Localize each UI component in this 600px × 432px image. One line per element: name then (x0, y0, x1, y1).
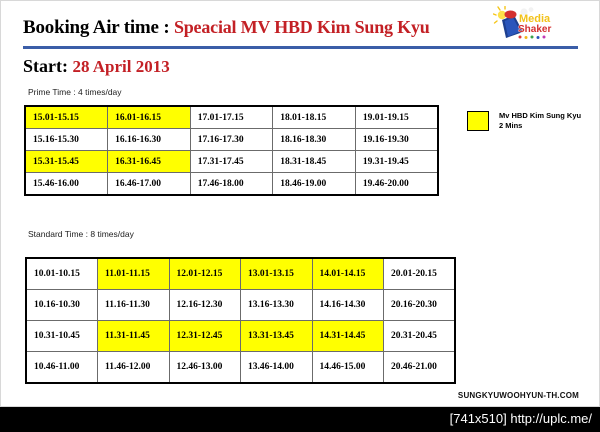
time-slot-cell: 19.31-19.45 (355, 151, 438, 173)
legend-line-2: 2 Mins (499, 121, 581, 131)
time-slot-cell-highlighted: 13.01-13.15 (241, 258, 313, 290)
confetti-icon (519, 36, 546, 40)
start-date-row: Start: 28 April 2013 (23, 56, 170, 77)
document-content: Booking Air time : Speacial MV HBD Kim S… (1, 1, 600, 408)
time-slot-cell: 15.46-16.00 (25, 173, 108, 196)
time-slot-cell-highlighted: 14.31-14.45 (312, 321, 384, 352)
time-slot-cell: 15.16-15.30 (25, 129, 108, 151)
time-slot-cell: 17.46-18.00 (190, 173, 273, 196)
legend-text: Mv HBD Kim Sung Kyu 2 Mins (499, 111, 581, 131)
time-slot-cell: 18.31-18.45 (273, 151, 356, 173)
time-slot-cell: 19.16-19.30 (355, 129, 438, 151)
time-slot-cell-highlighted: 12.31-12.45 (169, 321, 241, 352)
time-slot-cell: 12.46-13.00 (169, 352, 241, 384)
time-slot-cell-highlighted: 16.01-16.15 (108, 106, 191, 129)
time-slot-cell: 16.46-17.00 (108, 173, 191, 196)
time-slot-cell: 18.46-19.00 (273, 173, 356, 196)
standard-time-table: 10.01-10.1511.01-11.1512.01-12.1513.01-1… (25, 257, 456, 384)
time-slot-cell: 10.01-10.15 (26, 258, 98, 290)
time-slot-cell-highlighted: 14.01-14.15 (312, 258, 384, 290)
prime-time-table: 15.01-15.1516.01-16.1517.01-17.1518.01-1… (24, 105, 439, 196)
table-row: 15.16-15.3016.16-16.3017.16-17.3018.16-1… (25, 129, 438, 151)
logo-wordmark-shaker: Shaker (518, 24, 551, 35)
time-slot-cell: 17.16-17.30 (190, 129, 273, 151)
standard-time-caption: Standard Time : 8 times/day (28, 229, 134, 239)
time-slot-cell: 18.01-18.15 (273, 106, 356, 129)
screenshot-root: Booking Air time : Speacial MV HBD Kim S… (0, 0, 600, 432)
image-viewer-bar: [741x510] http://uplc.me/ (0, 407, 600, 432)
header-divider (23, 46, 578, 49)
time-slot-cell-highlighted: 15.31-15.45 (25, 151, 108, 173)
standard-time-table-body: 10.01-10.1511.01-11.1512.01-12.1513.01-1… (26, 258, 455, 383)
prime-time-caption: Prime Time : 4 times/day (28, 87, 122, 97)
time-slot-cell: 10.31-10.45 (26, 321, 98, 352)
time-slot-cell: 17.01-17.15 (190, 106, 273, 129)
time-slot-cell: 16.16-16.30 (108, 129, 191, 151)
start-date-value: 28 April 2013 (72, 57, 169, 76)
table-row: 15.46-16.0016.46-17.0017.46-18.0018.46-1… (25, 173, 438, 196)
table-row: 10.31-10.4511.31-11.4512.31-12.4513.31-1… (26, 321, 455, 352)
legend-line-1: Mv HBD Kim Sung Kyu (499, 111, 581, 121)
time-slot-cell: 20.16-20.30 (384, 290, 456, 321)
time-slot-cell: 20.01-20.15 (384, 258, 456, 290)
site-credit: SUNGKYUWOOHYUN-TH.COM (458, 391, 579, 400)
time-slot-cell: 10.16-10.30 (26, 290, 98, 321)
time-slot-cell: 11.16-11.30 (98, 290, 170, 321)
legend: Mv HBD Kim Sung Kyu 2 Mins (467, 111, 581, 131)
time-slot-cell-highlighted: 12.01-12.15 (169, 258, 241, 290)
table-row: 10.46-11.0011.46-12.0012.46-13.0013.46-1… (26, 352, 455, 384)
legend-swatch-yellow (467, 111, 489, 131)
table-row: 15.31-15.4516.31-16.4517.31-17.4518.31-1… (25, 151, 438, 173)
page-title-value: Speacial MV HBD Kim Sung Kyu (174, 17, 430, 37)
prime-time-table-body: 15.01-15.1516.01-16.1517.01-17.1518.01-1… (25, 106, 438, 195)
media-shaker-logo-icon: Media Shaker (493, 6, 555, 43)
time-slot-cell: 19.46-20.00 (355, 173, 438, 196)
time-slot-cell: 13.46-14.00 (241, 352, 313, 384)
table-row: 15.01-15.1516.01-16.1517.01-17.1518.01-1… (25, 106, 438, 129)
time-slot-cell-highlighted: 15.01-15.15 (25, 106, 108, 129)
time-slot-cell: 11.46-12.00 (98, 352, 170, 384)
time-slot-cell: 17.31-17.45 (190, 151, 273, 173)
time-slot-cell-highlighted: 11.31-11.45 (98, 321, 170, 352)
media-shaker-logo: Media Shaker (493, 6, 555, 43)
start-date-label: Start: (23, 56, 68, 76)
time-slot-cell-highlighted: 11.01-11.15 (98, 258, 170, 290)
page-title: Booking Air time : Speacial MV HBD Kim S… (23, 17, 493, 39)
time-slot-cell: 10.46-11.00 (26, 352, 98, 384)
bubble-icon (529, 7, 534, 12)
table-row: 10.01-10.1511.01-11.1512.01-12.1513.01-1… (26, 258, 455, 290)
document-page: Booking Air time : Speacial MV HBD Kim S… (0, 0, 600, 407)
time-slot-cell: 19.01-19.15 (355, 106, 438, 129)
time-slot-cell: 12.16-12.30 (169, 290, 241, 321)
time-slot-cell: 20.46-21.00 (384, 352, 456, 384)
image-viewer-bar-text: [741x510] http://uplc.me/ (450, 411, 592, 426)
time-slot-cell-highlighted: 13.31-13.45 (241, 321, 313, 352)
table-row: 10.16-10.3011.16-11.3012.16-12.3013.16-1… (26, 290, 455, 321)
time-slot-cell: 20.31-20.45 (384, 321, 456, 352)
page-title-label: Booking Air time : (23, 17, 169, 38)
time-slot-cell: 14.16-14.30 (312, 290, 384, 321)
time-slot-cell: 18.16-18.30 (273, 129, 356, 151)
shaker-cap-icon (505, 11, 517, 19)
time-slot-cell-highlighted: 16.31-16.45 (108, 151, 191, 173)
time-slot-cell: 13.16-13.30 (241, 290, 313, 321)
time-slot-cell: 14.46-15.00 (312, 352, 384, 384)
